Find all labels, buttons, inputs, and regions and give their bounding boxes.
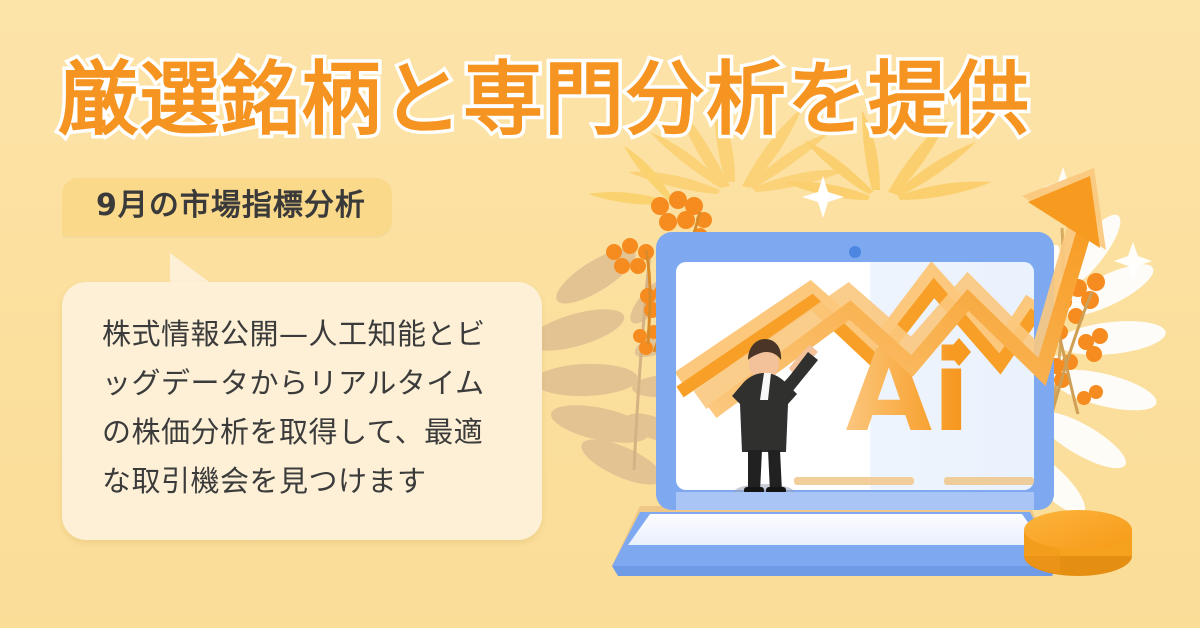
headline-wrap: 厳選銘柄と専門分析を提供	[58, 48, 1148, 156]
banner-root: Ai	[0, 0, 1200, 628]
laptop-base-edge	[612, 566, 1058, 576]
gold-coin-icon	[1024, 510, 1132, 576]
laptop-keyboard-deck	[628, 514, 1044, 545]
speech-bubble: 株式情報公開—人工知能とビッグデータからリアルタイムの株価分析を取得して、最適な…	[62, 282, 542, 540]
status-badge-label: 9月の市場指標分析	[96, 188, 366, 223]
keyboard-accent	[794, 477, 914, 485]
laptop-camera-icon	[849, 246, 861, 258]
status-badge: 9月の市場指標分析	[62, 178, 392, 236]
laptop-hinge	[676, 492, 1034, 510]
body-text: 株式情報公開—人工知能とビッグデータからリアルタイムの株価分析を取得して、最適な…	[102, 310, 504, 506]
page-title: 厳選銘柄と専門分析を提供	[58, 48, 1148, 152]
